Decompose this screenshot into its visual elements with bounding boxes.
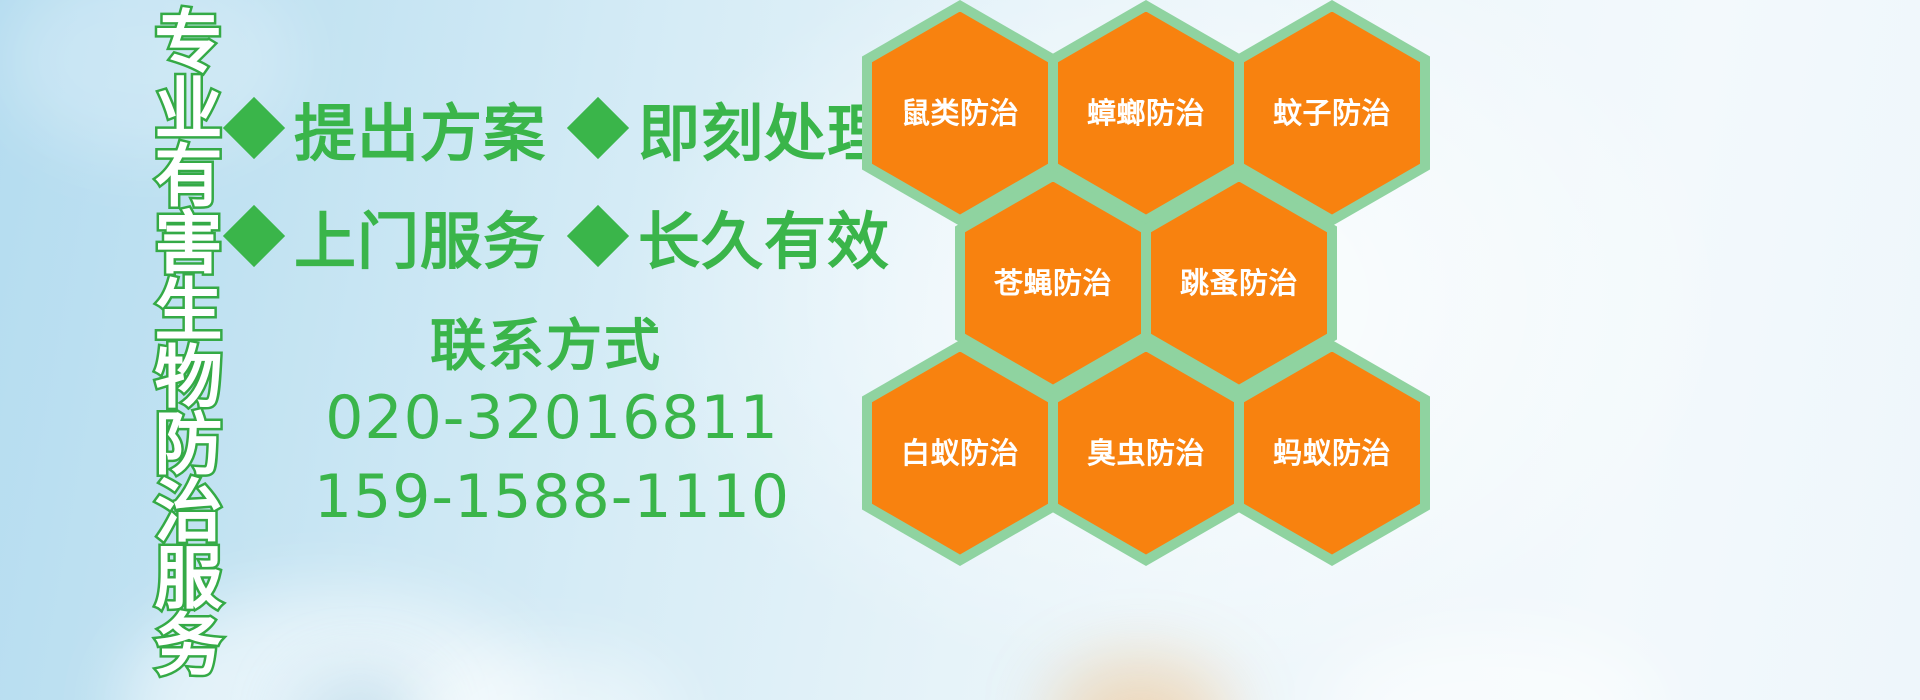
hex-inner: 蚂蚁防治 — [1244, 352, 1420, 555]
hex-inner: 跳蚤防治 — [1151, 182, 1327, 385]
feature-list: 提出方案 即刻处理 上门服务 长久有效 — [232, 74, 872, 290]
phone-number-mobile[interactable]: 159-1588-1110 — [232, 458, 872, 537]
background-haze-blob — [300, 680, 420, 700]
background-haze-blob — [1320, 630, 1660, 700]
hex-inner: 苍蝇防治 — [965, 182, 1141, 385]
contact-title: 联系方式 — [220, 316, 872, 379]
feature-label: 提出方案 — [294, 83, 546, 173]
feature-label: 长久有效 — [638, 191, 890, 281]
feature-label: 上门服务 — [294, 191, 546, 281]
hex-label: 鼠类防治 — [901, 99, 1019, 128]
diamond-icon — [223, 97, 285, 159]
background-haze-blob — [1050, 660, 1230, 700]
hex-inner: 蚊子防治 — [1244, 12, 1420, 215]
hex-label: 蟑螂防治 — [1087, 99, 1205, 128]
hex-inner: 臭虫防治 — [1058, 352, 1234, 555]
hex-label: 臭虫防治 — [1087, 439, 1205, 468]
background-haze-blob — [420, 650, 680, 700]
hex-inner: 蟑螂防治 — [1058, 12, 1234, 215]
feature-row: 提出方案 即刻处理 — [232, 74, 872, 182]
hex-label: 苍蝇防治 — [994, 269, 1112, 298]
hex-label: 跳蚤防治 — [1180, 269, 1298, 298]
contact-block: 联系方式 020-32016811 159-1588-1110 — [232, 316, 872, 537]
hex-label: 白蚁防治 — [901, 439, 1019, 468]
diamond-icon — [567, 97, 629, 159]
vertical-headline: 专业有害生物防治服务 — [108, 6, 216, 676]
promo-banner: 专业有害生物防治服务 提出方案 即刻处理 上门服务 长久有效 联系方式 020-… — [0, 0, 1920, 700]
feature-row: 上门服务 长久有效 — [232, 182, 872, 290]
feature-label: 即刻处理 — [638, 83, 890, 173]
hex-label: 蚊子防治 — [1273, 99, 1391, 128]
service-honeycomb: 鼠类防治 蟑螂防治 蚊子防治 苍蝇防治 跳蚤防治 白蚁防 — [862, 0, 1482, 538]
hex-inner: 白蚁防治 — [872, 352, 1048, 555]
diamond-icon — [223, 205, 285, 267]
diamond-icon — [567, 205, 629, 267]
hex-inner: 鼠类防治 — [872, 12, 1048, 215]
phone-number-landline[interactable]: 020-32016811 — [232, 379, 872, 458]
hex-label: 蚂蚁防治 — [1273, 439, 1391, 468]
